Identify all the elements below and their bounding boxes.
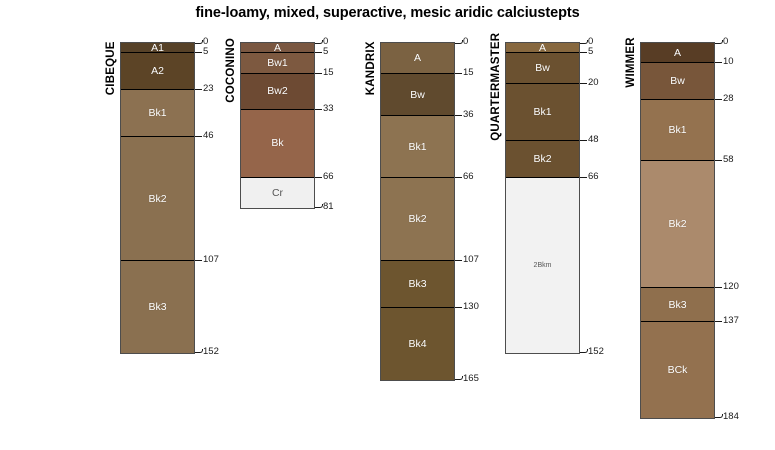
depth-tick-line [455, 40, 463, 44]
horizon-bw[interactable]: Bw [506, 53, 579, 84]
depth-tick-label: 152 [588, 347, 604, 357]
horizon-label: A [414, 52, 421, 64]
horizon-bw2[interactable]: Bw2 [241, 74, 314, 111]
horizon-a[interactable]: A [506, 43, 579, 53]
horizon-bk1[interactable]: Bk1 [381, 116, 454, 177]
depth-tick-line [315, 109, 322, 110]
profile-column: ABwBk1Bk22Bkm [505, 42, 580, 354]
horizon-a2[interactable]: A2 [121, 53, 194, 90]
depth-tick-line [715, 99, 722, 100]
depth-tick-line [715, 321, 722, 322]
horizon-label: Bk2 [148, 193, 166, 205]
horizon-label: Bk1 [408, 141, 426, 153]
horizon-bk[interactable]: Bk [241, 110, 314, 177]
depth-tick-label: 28 [723, 94, 734, 104]
depth-tick-line [455, 260, 462, 261]
horizon-bw1[interactable]: Bw1 [241, 53, 314, 73]
horizon-label: Bk3 [408, 278, 426, 290]
depth-tick-label: 165 [463, 374, 479, 384]
depth-tick-line [195, 40, 203, 44]
horizon-bck[interactable]: BCk [641, 322, 714, 418]
horizon-bk2[interactable]: Bk2 [506, 141, 579, 178]
depth-tick-label: 107 [203, 255, 219, 265]
profile-column: ABwBk1Bk2Bk3Bk4 [380, 42, 455, 381]
horizon-label: Bw1 [267, 57, 287, 69]
depth-tick-label: 184 [723, 412, 739, 422]
horizon-bk3[interactable]: Bk3 [381, 261, 454, 308]
horizon-bk2[interactable]: Bk2 [381, 178, 454, 262]
horizon-label: A [274, 43, 281, 53]
depth-tick-line [580, 349, 588, 353]
depth-tick-label: 46 [203, 131, 214, 141]
horizon-label: Bk1 [668, 124, 686, 136]
depth-tick-line [315, 177, 322, 178]
depth-tick-label: 0 [723, 37, 728, 47]
horizon-label: Bk1 [148, 107, 166, 119]
depth-tick-line [455, 177, 462, 178]
horizon-bk4[interactable]: Bk4 [381, 308, 454, 379]
depth-tick-line [715, 160, 722, 161]
horizon-2bkm[interactable]: 2Bkm [506, 178, 579, 353]
depth-tick-line [580, 40, 588, 44]
horizon-a1[interactable]: A1 [121, 43, 194, 53]
depth-tick-label: 120 [723, 282, 739, 292]
horizon-a[interactable]: A [381, 43, 454, 74]
depth-tick-label: 5 [323, 47, 328, 57]
depth-tick-label: 107 [463, 255, 479, 265]
depth-tick-label: 0 [588, 37, 593, 47]
horizon-bk1[interactable]: Bk1 [121, 90, 194, 137]
horizon-a[interactable]: A [641, 43, 714, 63]
depth-tick-label: 81 [323, 202, 334, 212]
horizon-label: Bw [535, 62, 550, 74]
depth-tick-line [580, 52, 587, 53]
horizon-bw[interactable]: Bw [641, 63, 714, 100]
horizon-bk3[interactable]: Bk3 [641, 288, 714, 323]
profile-column: ABw1Bw2BkCr [240, 42, 315, 209]
depth-tick-label: 23 [203, 84, 214, 94]
depth-tick-line [715, 287, 722, 288]
horizon-label: Bw [410, 89, 425, 101]
horizon-bk2[interactable]: Bk2 [641, 161, 714, 287]
horizon-label: Bk3 [668, 299, 686, 311]
horizon-label: Bw [670, 75, 685, 87]
horizon-label: Bk3 [148, 301, 166, 313]
depth-tick-line [455, 307, 462, 308]
depth-tick-line [580, 140, 587, 141]
horizon-a[interactable]: A [241, 43, 314, 53]
horizon-label: Bk2 [668, 218, 686, 230]
depth-tick-label: 0 [323, 37, 328, 47]
depth-tick-label: 36 [463, 110, 474, 120]
depth-tick-line [315, 73, 322, 74]
depth-tick-label: 15 [463, 68, 474, 78]
horizon-label: A1 [151, 43, 164, 53]
horizon-label: A [674, 47, 681, 59]
depth-tick-label: 58 [723, 155, 734, 165]
profile-name-label: WIMMER [625, 37, 637, 87]
horizon-label: Bk [271, 137, 283, 149]
horizon-bk3[interactable]: Bk3 [121, 261, 194, 353]
horizon-label: Bk2 [408, 213, 426, 225]
depth-tick-line [580, 83, 587, 84]
horizon-label: A [539, 43, 546, 53]
horizon-label: Bk2 [533, 153, 551, 165]
profile-name-label: KANDRIX [365, 41, 377, 95]
depth-tick-label: 10 [723, 57, 734, 67]
depth-tick-line [195, 89, 202, 90]
depth-tick-line [195, 349, 203, 353]
profile-column: ABwBk1Bk2Bk3BCk [640, 42, 715, 419]
horizon-label: A2 [151, 65, 164, 77]
depth-tick-label: 15 [323, 68, 334, 78]
profile-name-label: QUARTERMASTER [490, 33, 502, 141]
depth-tick-line [580, 177, 587, 178]
depth-tick-line [195, 52, 202, 53]
depth-tick-line [195, 136, 202, 137]
horizon-label: BCk [668, 364, 688, 376]
depth-tick-line [455, 115, 462, 116]
depth-tick-line [715, 40, 723, 44]
profile-name-label: CIBEQUE [105, 41, 117, 95]
depth-tick-label: 152 [203, 347, 219, 357]
horizon-bk1[interactable]: Bk1 [506, 84, 579, 141]
depth-tick-label: 137 [723, 316, 739, 326]
horizon-bk1[interactable]: Bk1 [641, 100, 714, 161]
depth-tick-line [315, 204, 323, 208]
depth-tick-label: 20 [588, 78, 599, 88]
depth-tick-label: 33 [323, 104, 334, 114]
horizon-bw[interactable]: Bw [381, 74, 454, 117]
depth-tick-label: 0 [203, 37, 208, 47]
horizon-label: 2Bkm [534, 262, 552, 269]
horizon-cr[interactable]: Cr [241, 178, 314, 209]
depth-tick-label: 5 [588, 47, 593, 57]
depth-tick-label: 48 [588, 135, 599, 145]
profile-column: A1A2Bk1Bk2Bk3 [120, 42, 195, 354]
depth-tick-line [455, 73, 462, 74]
depth-tick-label: 0 [463, 37, 468, 47]
depth-tick-line [315, 52, 322, 53]
profile-name-label: COCONINO [225, 38, 237, 103]
depth-tick-line [715, 414, 723, 418]
horizon-label: Cr [272, 187, 283, 199]
depth-tick-line [455, 376, 463, 380]
depth-tick-line [315, 40, 323, 44]
horizon-label: Bk1 [533, 106, 551, 118]
depth-tick-line [715, 62, 722, 63]
depth-tick-label: 66 [463, 172, 474, 182]
depth-tick-label: 5 [203, 47, 208, 57]
depth-tick-label: 130 [463, 302, 479, 312]
depth-tick-label: 66 [323, 172, 334, 182]
horizon-label: Bk4 [408, 338, 426, 350]
horizon-bk2[interactable]: Bk2 [121, 137, 194, 261]
depth-tick-line [195, 260, 202, 261]
horizon-label: Bw2 [267, 85, 287, 97]
page-title: fine-loamy, mixed, superactive, mesic ar… [0, 0, 775, 26]
depth-tick-label: 66 [588, 172, 599, 182]
